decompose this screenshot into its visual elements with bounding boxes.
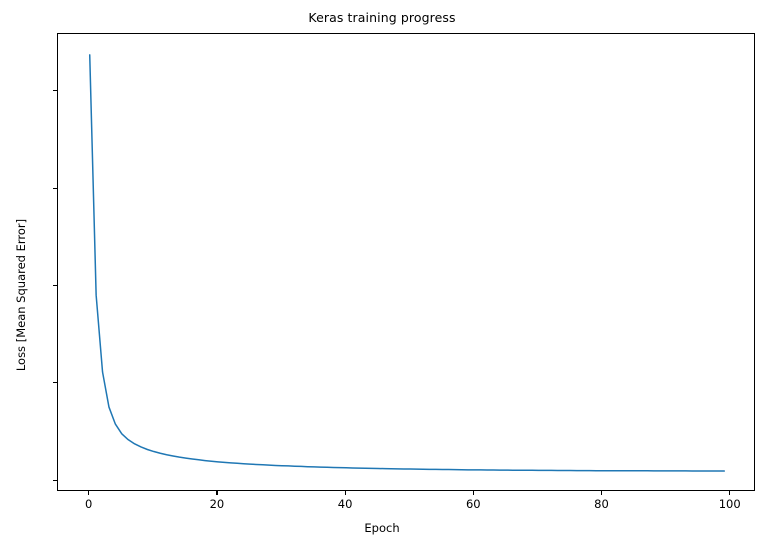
y-tick-mark — [53, 188, 57, 189]
x-tick-label: 0 — [85, 497, 92, 511]
y-tick-mark — [53, 90, 57, 91]
x-axis-label: Epoch — [0, 521, 764, 535]
x-tick-mark — [88, 491, 89, 495]
x-tick-mark — [601, 491, 602, 495]
y-tick-mark — [53, 480, 57, 481]
x-tick-label: 80 — [594, 497, 609, 511]
x-tick-mark — [473, 491, 474, 495]
x-tick-label: 60 — [466, 497, 481, 511]
y-axis-label-wrap: Loss [Mean Squared Error] — [14, 33, 34, 491]
x-tick-mark — [216, 491, 217, 495]
loss-line-series — [90, 55, 725, 471]
plot-axes-area — [57, 33, 755, 491]
x-tick-label: 40 — [338, 497, 353, 511]
x-tick-label: 20 — [210, 497, 225, 511]
matplotlib-figure: Keras training progress 010203040 020406… — [0, 0, 764, 547]
loss-curve-svg — [58, 34, 756, 492]
x-tick-mark — [345, 491, 346, 495]
y-axis-label: Loss [Mean Squared Error] — [14, 66, 34, 524]
y-tick-mark — [53, 285, 57, 286]
y-tick-mark — [53, 382, 57, 383]
chart-title: Keras training progress — [0, 10, 764, 25]
x-tick-label: 100 — [719, 497, 741, 511]
x-tick-mark — [729, 491, 730, 495]
